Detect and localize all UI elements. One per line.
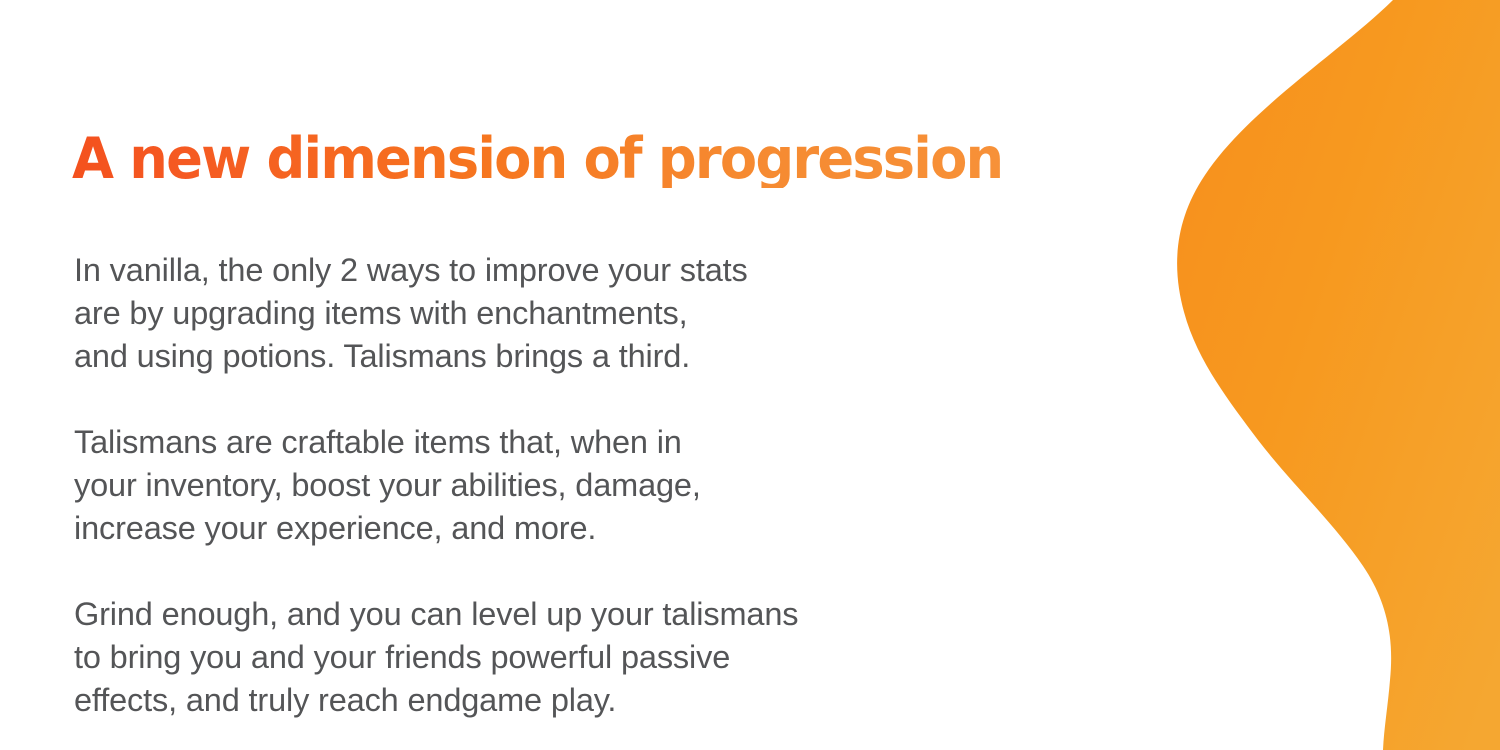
content-column: A new dimension of progression In vanill… bbox=[72, 0, 1072, 750]
page-title: A new dimension of progression bbox=[72, 131, 1002, 188]
body-paragraph-3: Grind enough, and you can level up your … bbox=[74, 593, 1064, 722]
orange-wave-shape-icon bbox=[1100, 0, 1500, 750]
body-paragraph-2: Talismans are craftable items that, when… bbox=[74, 421, 1064, 550]
orange-wave-blob-decoration bbox=[1100, 0, 1500, 750]
body-paragraph-1: In vanilla, the only 2 ways to improve y… bbox=[74, 249, 1064, 378]
slide-canvas: A new dimension of progression In vanill… bbox=[0, 0, 1500, 750]
body-copy: In vanilla, the only 2 ways to improve y… bbox=[74, 249, 1064, 722]
